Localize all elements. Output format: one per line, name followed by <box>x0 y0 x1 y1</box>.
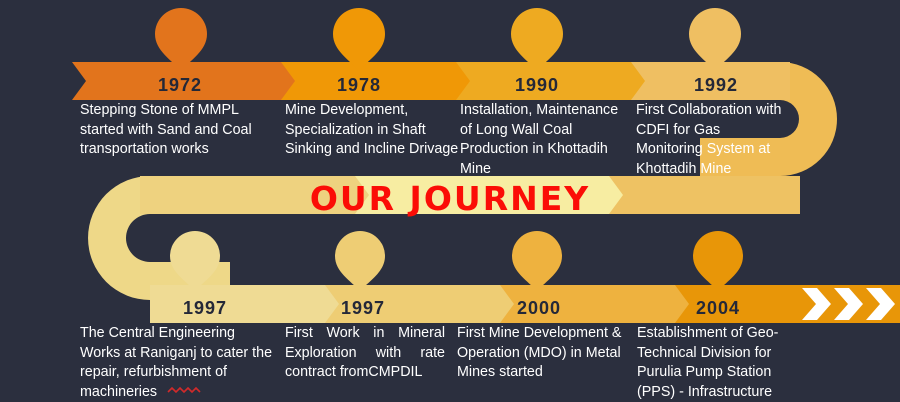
year-label-bottom-2: 1997 <box>313 298 413 319</box>
description-bottom-1: The Central Engineering Works at Ranigan… <box>80 324 276 402</box>
description-top-1: Stepping Stone of MMPL started with Sand… <box>80 101 272 160</box>
year-label-bottom-1: 1997 <box>155 298 255 319</box>
year-label-bottom-3: 2000 <box>489 298 589 319</box>
description-top-3: Installation, Maintenance of Long Wall C… <box>460 101 632 179</box>
map-pin-icon <box>335 231 385 291</box>
description-top-4: First Collaboration with CDFI for Gas Mo… <box>636 101 786 179</box>
map-pin-icon <box>511 8 563 71</box>
year-label-top-2: 1978 <box>309 75 409 96</box>
map-pin-icon <box>155 8 207 71</box>
timeline-infographic: 1972 1978 1990 1992 1997 1997 2000 2004 … <box>0 0 900 400</box>
description-bottom-2: First Work in Mineral Exploration with r… <box>285 324 445 383</box>
map-pin-icon <box>689 8 741 71</box>
description-top-2: Mine Development, Specialization in Shaf… <box>285 101 475 160</box>
year-label-top-3: 1990 <box>487 75 587 96</box>
map-pin-icon <box>333 8 385 71</box>
page-title: OUR JOURNEY <box>0 182 900 216</box>
map-pin-icon <box>693 231 743 291</box>
year-label-top-1: 1972 <box>130 75 230 96</box>
description-bottom-3: First Mine Development & Operation (MDO)… <box>457 324 629 383</box>
map-pin-icon <box>512 231 562 291</box>
description-bottom-4: Establishment of Geo-Technical Division … <box>637 324 799 402</box>
year-label-bottom-4: 2004 <box>668 298 768 319</box>
year-label-top-4: 1992 <box>666 75 766 96</box>
